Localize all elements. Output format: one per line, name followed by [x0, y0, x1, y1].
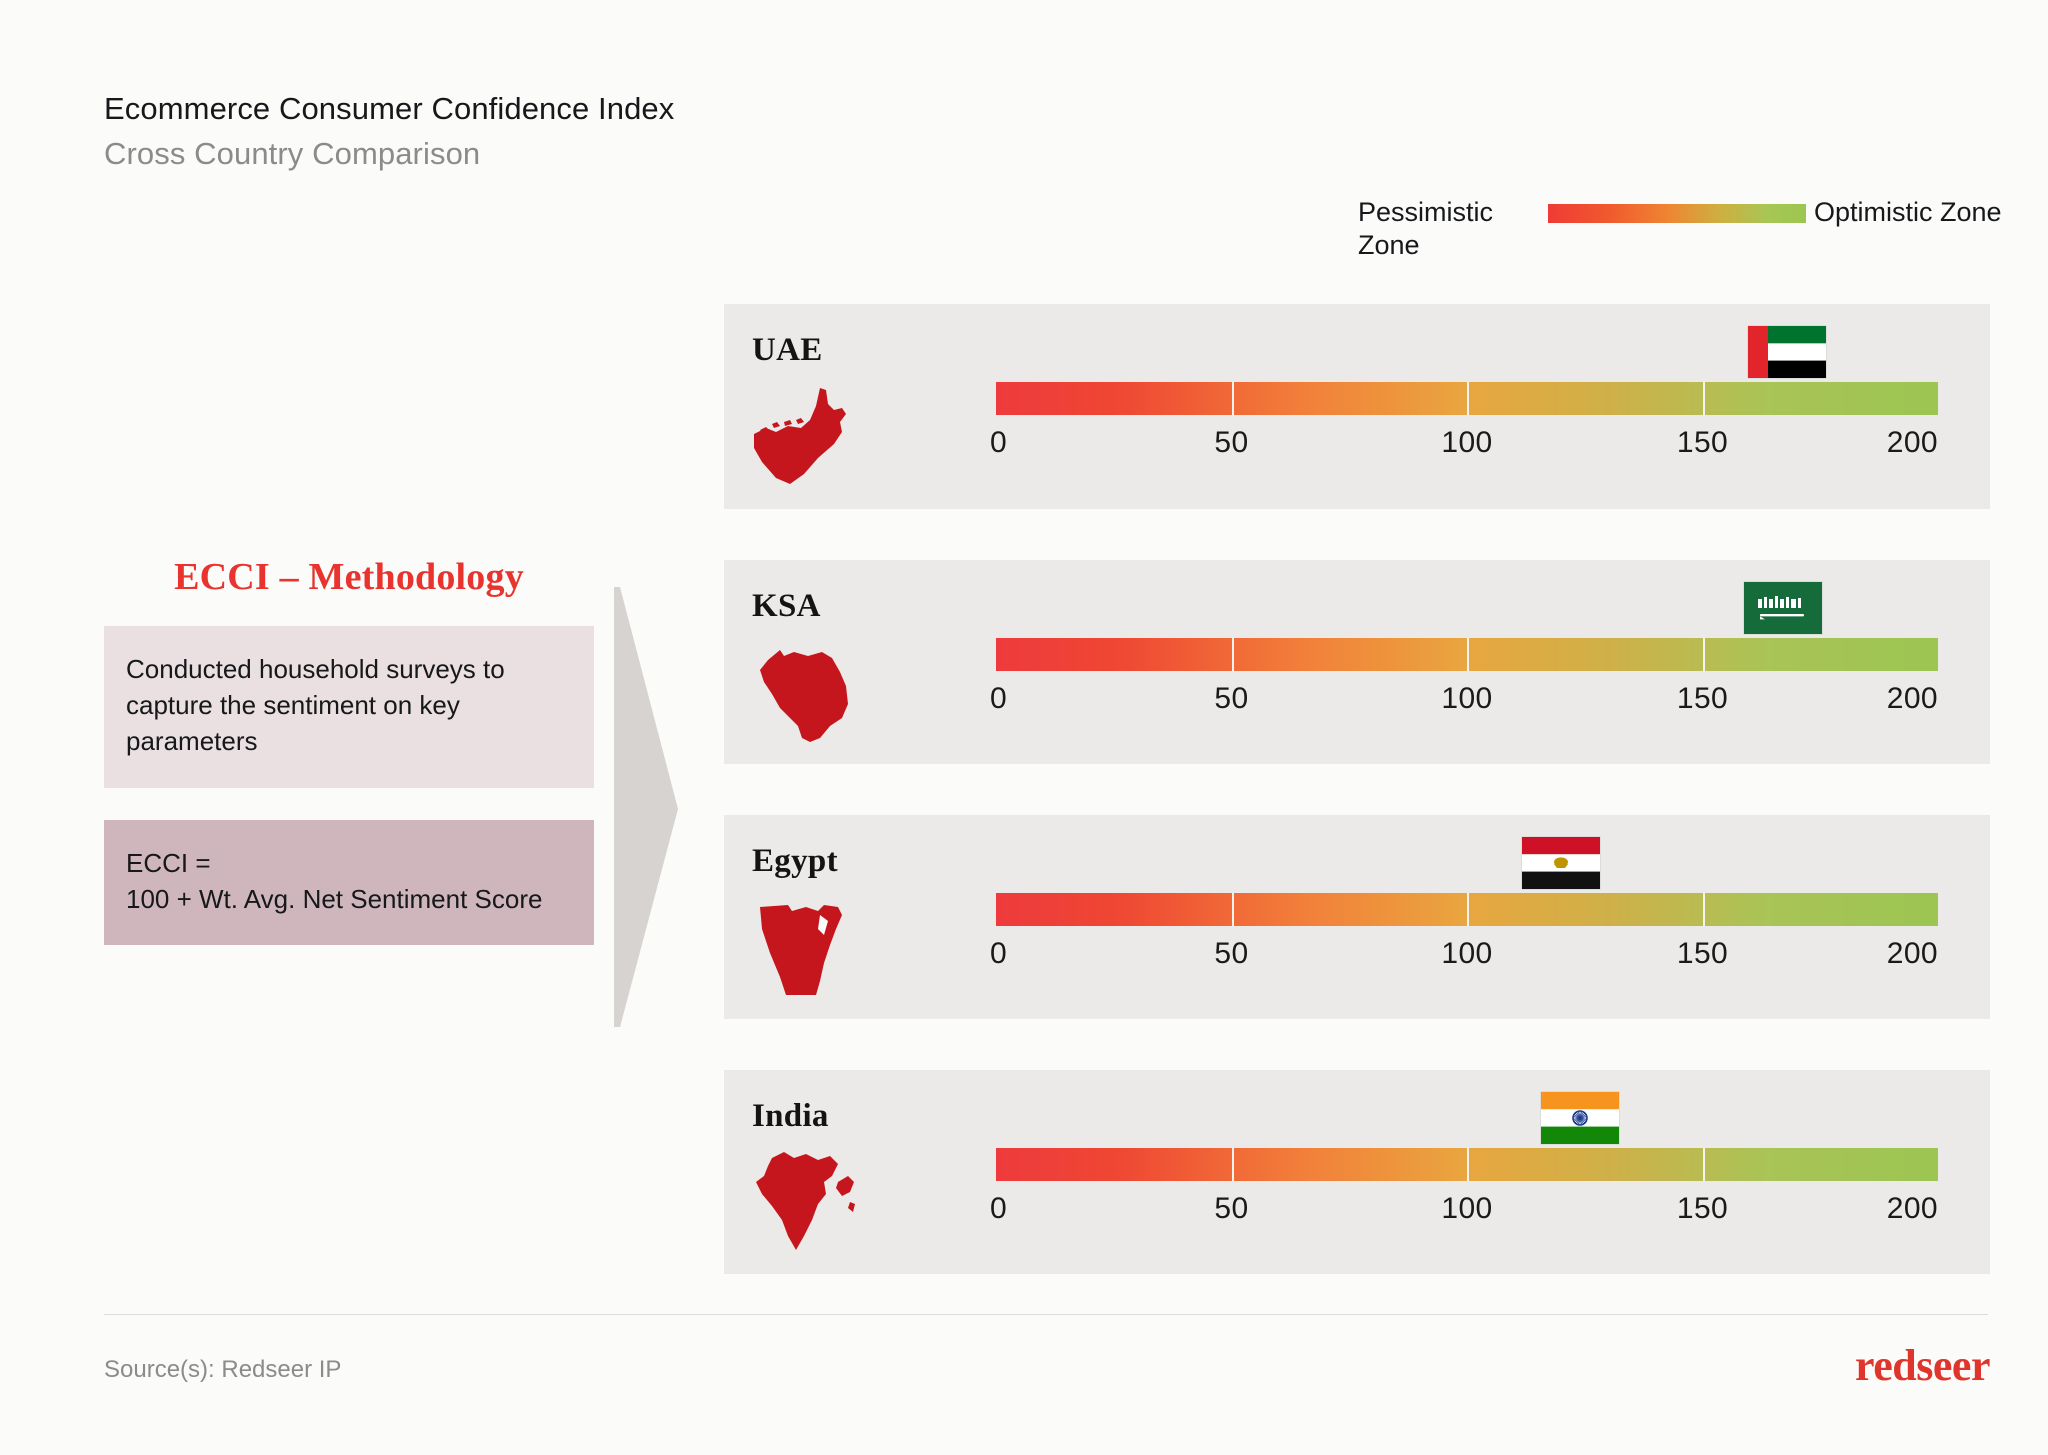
page-title: Ecommerce Consumer Confidence Index [104, 90, 674, 129]
country-panel: UAE050100150200 [724, 304, 1990, 509]
axis-tick-label: 0 [990, 937, 1007, 971]
methodology-title: ECCI – Methodology [104, 555, 594, 599]
axis-tick-label: 0 [990, 426, 1007, 460]
country-name-label: KSA [752, 588, 821, 625]
axis-tick-label: 150 [1677, 1192, 1728, 1226]
country-name-label: UAE [752, 332, 823, 369]
index-scale: 050100150200 [996, 304, 1946, 509]
country-panel: KSA050100150200 [724, 560, 1990, 764]
redseer-logo: redseer [1855, 1340, 1990, 1391]
source-text: Source(s): Redseer IP [104, 1356, 341, 1384]
tick-divider [1703, 382, 1705, 415]
tick-divider [1467, 1148, 1469, 1181]
axis-tick-label: 100 [1441, 682, 1492, 716]
axis-tick-label: 50 [1214, 682, 1248, 716]
tick-divider [1467, 638, 1469, 671]
legend-gradient-bar [1548, 204, 1806, 223]
footer-divider [104, 1314, 1988, 1315]
uae-flag [1748, 326, 1826, 378]
legend-label-optimistic: Optimistic Zone [1814, 196, 2014, 229]
axis-tick-label: 150 [1677, 682, 1728, 716]
tick-divider [1467, 382, 1469, 415]
legend: Pessimistic Zone Optimistic Zone [1358, 196, 1978, 268]
axis-tick-label: 100 [1441, 937, 1492, 971]
india-flag [1541, 1092, 1619, 1144]
axis-tick-label: 50 [1214, 426, 1248, 460]
axis-tick-label: 200 [1887, 937, 1938, 971]
country-panel: Egypt050100150200 [724, 815, 1990, 1019]
index-scale: 050100150200 [996, 560, 1946, 764]
tick-divider [1232, 1148, 1234, 1181]
india-map [746, 1136, 876, 1260]
legend-label-pessimistic: Pessimistic Zone [1358, 196, 1558, 262]
page-subtitle: Cross Country Comparison [104, 133, 674, 175]
axis-tick-label: 200 [1887, 1192, 1938, 1226]
tick-divider [1703, 638, 1705, 671]
country-name-label: Egypt [752, 843, 838, 880]
axis-tick-label: 150 [1677, 937, 1728, 971]
tick-divider [1467, 893, 1469, 926]
ksa-flag [1744, 582, 1822, 634]
arrow-icon [608, 587, 708, 1027]
tick-divider [1703, 893, 1705, 926]
country-panel: India050100150200 [724, 1070, 1990, 1274]
methodology-box-formula: ECCI =100 + Wt. Avg. Net Sentiment Score [104, 820, 594, 946]
ksa-map [746, 626, 876, 750]
axis-tick-label: 150 [1677, 426, 1728, 460]
country-name-label: India [752, 1098, 829, 1135]
axis-tick-label: 100 [1441, 426, 1492, 460]
index-scale: 050100150200 [996, 815, 1946, 1019]
axis-tick-label: 50 [1214, 1192, 1248, 1226]
axis-tick-label: 50 [1214, 937, 1248, 971]
tick-divider [1232, 382, 1234, 415]
tick-divider [1232, 638, 1234, 671]
methodology-section: ECCI – Methodology Conducted household s… [104, 555, 594, 945]
egypt-flag [1522, 837, 1600, 889]
uae-map [746, 370, 876, 494]
tick-divider [1703, 1148, 1705, 1181]
methodology-box-surveys: Conducted household surveys to capture t… [104, 626, 594, 788]
tick-divider [1232, 893, 1234, 926]
egypt-map [746, 881, 876, 1005]
page-header: Ecommerce Consumer Confidence Index Cros… [104, 90, 674, 175]
axis-tick-label: 0 [990, 682, 1007, 716]
axis-tick-label: 100 [1441, 1192, 1492, 1226]
index-scale: 050100150200 [996, 1070, 1946, 1274]
axis-tick-label: 0 [990, 1192, 1007, 1226]
axis-tick-label: 200 [1887, 426, 1938, 460]
axis-tick-label: 200 [1887, 682, 1938, 716]
